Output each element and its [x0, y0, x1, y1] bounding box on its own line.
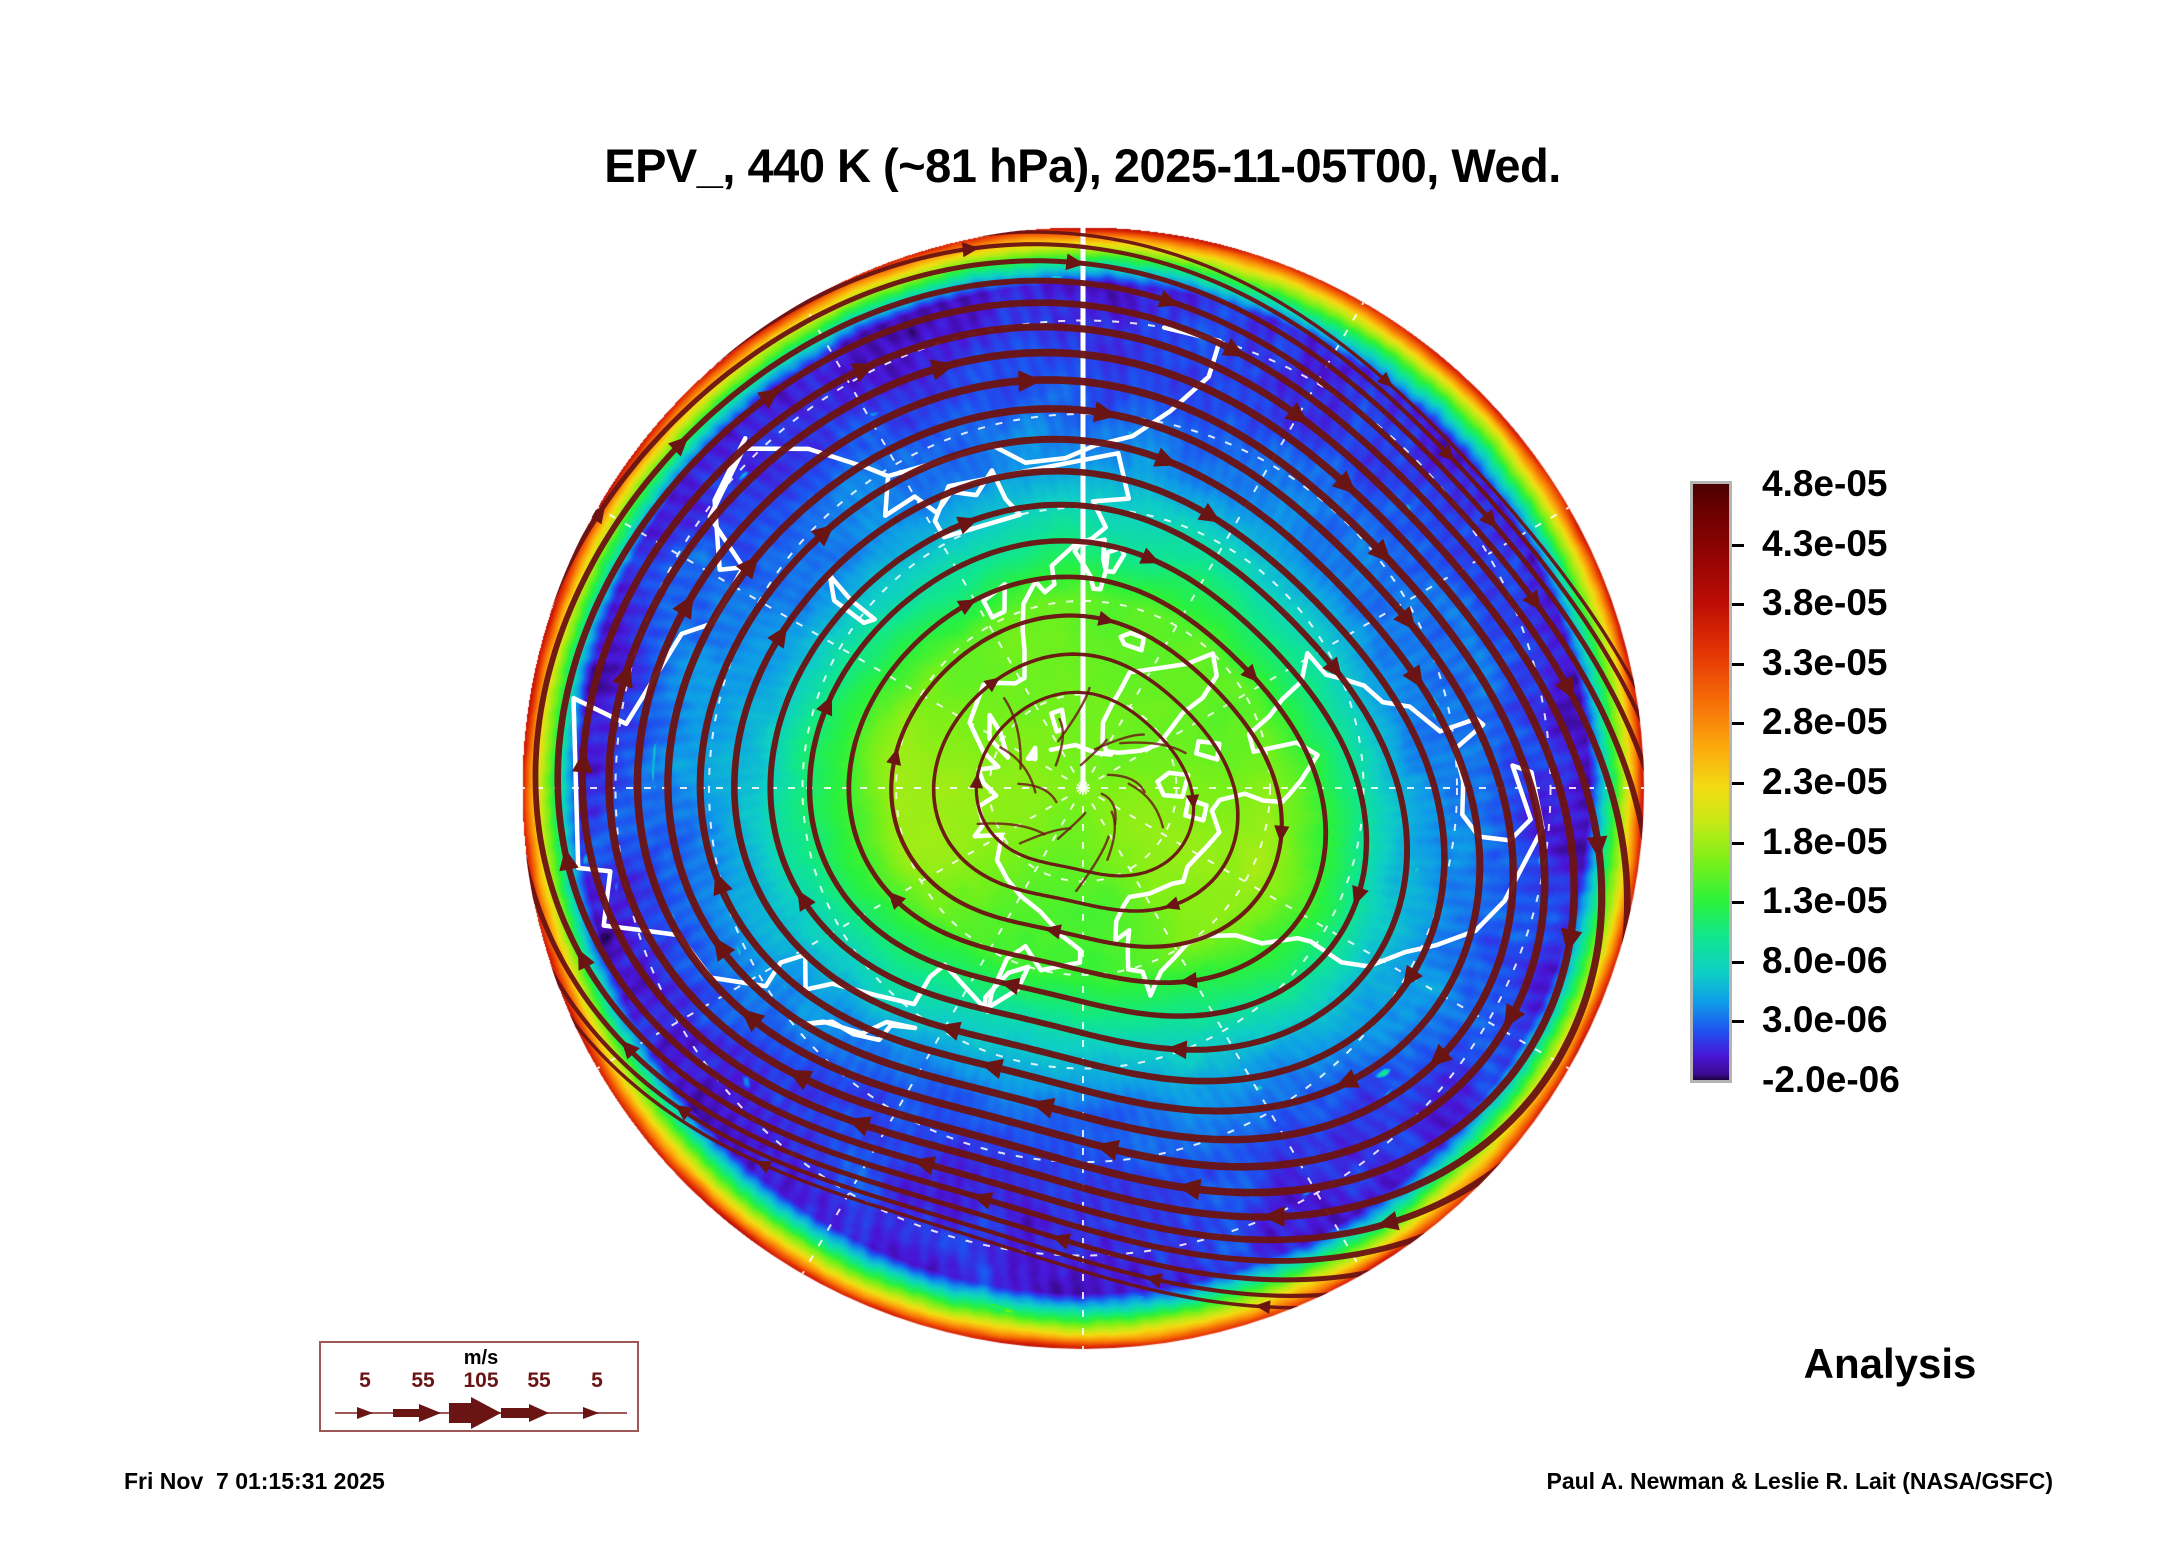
colorbar-tick [1732, 842, 1744, 845]
colorbar-tick-label: -2.0e-06 [1762, 1061, 1900, 1098]
colorbar-tick-label: 2.3e-05 [1762, 763, 1888, 800]
page-title: EPV_, 440 K (~81 hPa), 2025-11-05T00, We… [0, 138, 2165, 193]
render-timestamp: Fri Nov 7 01:15:31 2025 [124, 1468, 385, 1495]
colorbar-tick-label: 4.3e-05 [1762, 525, 1888, 562]
wind-unit-label: m/s [321, 1347, 641, 1370]
colorbar-tick [1732, 544, 1744, 547]
colorbar-tick [1732, 901, 1744, 904]
wind-speed-legend: m/s 555105555 [319, 1341, 639, 1432]
wind-speed-value: 5 [567, 1369, 627, 1393]
colorbar-tick-label: 3.3e-05 [1762, 644, 1888, 681]
colorbar-tick-label: 1.3e-05 [1762, 882, 1888, 919]
colorbar-tick-label: 4.8e-05 [1762, 465, 1888, 502]
wind-arrow-scale-icon [321, 1395, 641, 1431]
analysis-label: Analysis [1690, 1340, 2090, 1388]
wind-speed-value: 5 [335, 1369, 395, 1393]
colorbar-tick-label: 3.8e-05 [1762, 584, 1888, 621]
colorbar-tick-label: 8.0e-06 [1762, 942, 1888, 979]
colorbar-tick-label: 2.8e-05 [1762, 703, 1888, 740]
wind-speed-value: 55 [509, 1369, 569, 1393]
author-credit: Paul A. Newman & Leslie R. Lait (NASA/GS… [1546, 1468, 2053, 1495]
map-overlay-svg [519, 224, 1647, 1352]
colorbar-tick [1732, 961, 1744, 964]
wind-speed-value: 55 [393, 1369, 453, 1393]
colorbar-tick [1732, 603, 1744, 606]
colorbar-tick [1732, 782, 1744, 785]
epv-polar-map-figure: EPV_, 440 K (~81 hPa), 2025-11-05T00, We… [0, 0, 2165, 1561]
polar-map[interactable] [519, 224, 1647, 1352]
colorbar-tick [1732, 1020, 1744, 1023]
colorbar[interactable]: 4.8e-054.3e-053.8e-053.3e-052.8e-052.3e-… [1690, 481, 2110, 1091]
wind-speed-value: 105 [451, 1369, 511, 1393]
colorbar-tick [1732, 663, 1744, 666]
colorbar-tick-label: 3.0e-06 [1762, 1001, 1888, 1038]
colorbar-gradient [1690, 481, 1732, 1083]
colorbar-tick [1732, 722, 1744, 725]
colorbar-tick-label: 1.8e-05 [1762, 823, 1888, 860]
